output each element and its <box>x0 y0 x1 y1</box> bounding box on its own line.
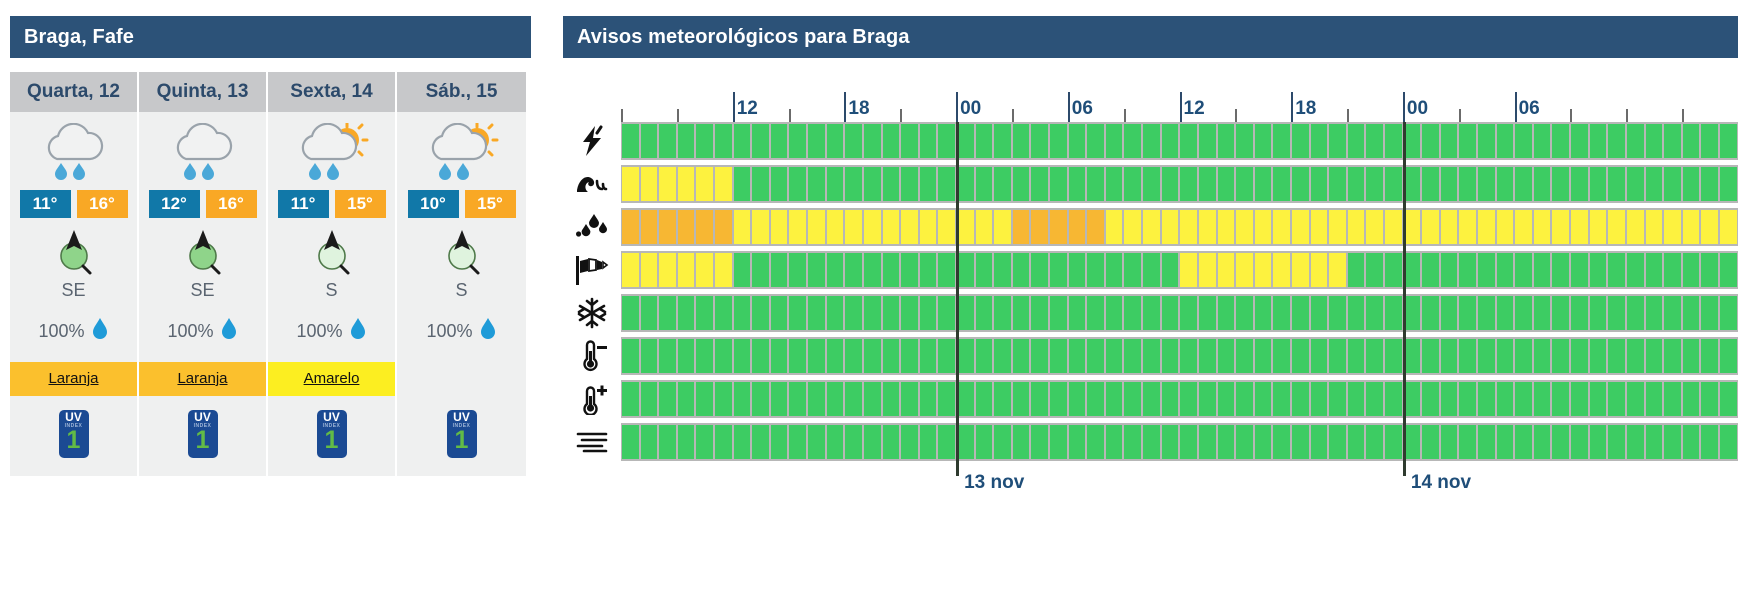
warning-cell[interactable] <box>715 296 732 330</box>
warning-cell[interactable] <box>1087 296 1104 330</box>
warning-cell[interactable] <box>1627 124 1644 158</box>
warning-cell[interactable] <box>1683 124 1700 158</box>
warning-cell[interactable] <box>1646 382 1663 416</box>
warning-cell[interactable] <box>1124 124 1141 158</box>
warning-cell[interactable] <box>1124 296 1141 330</box>
warning-cell[interactable] <box>901 124 918 158</box>
warning-cell[interactable] <box>696 210 713 244</box>
warning-cell[interactable] <box>1087 253 1104 287</box>
warning-cell[interactable] <box>994 339 1011 373</box>
warning-cell[interactable] <box>1218 253 1235 287</box>
warning-cell[interactable] <box>1255 124 1272 158</box>
warning-cell[interactable] <box>1236 167 1253 201</box>
warning-cell[interactable] <box>715 167 732 201</box>
warning-cell[interactable] <box>1013 210 1030 244</box>
warning-cell[interactable] <box>752 339 769 373</box>
warning-cell[interactable] <box>622 124 639 158</box>
warning-cell[interactable] <box>1608 124 1625 158</box>
warning-cell[interactable] <box>1459 167 1476 201</box>
warning-cell[interactable] <box>883 167 900 201</box>
warning-cell[interactable] <box>1646 167 1663 201</box>
warning-cell[interactable] <box>1701 339 1718 373</box>
warning-cell[interactable] <box>1292 296 1309 330</box>
warning-cell[interactable] <box>1199 124 1216 158</box>
warning-cell[interactable] <box>976 253 993 287</box>
warning-cell[interactable] <box>1162 339 1179 373</box>
warning-cell[interactable] <box>1720 382 1737 416</box>
warning-cell[interactable] <box>789 210 806 244</box>
warning-cell[interactable] <box>1013 253 1030 287</box>
warning-cell[interactable] <box>1590 339 1607 373</box>
warning-cell[interactable] <box>678 296 695 330</box>
warning-cell[interactable] <box>1348 124 1365 158</box>
warning-cell[interactable] <box>1590 425 1607 459</box>
warning-cell[interactable] <box>1162 167 1179 201</box>
warning-cell[interactable] <box>752 382 769 416</box>
warning-cell[interactable] <box>1031 210 1048 244</box>
warning-cell[interactable] <box>1292 210 1309 244</box>
warning-cell[interactable] <box>845 425 862 459</box>
warning-cell[interactable] <box>734 382 751 416</box>
warning-cell[interactable] <box>1162 124 1179 158</box>
warning-cell[interactable] <box>1366 167 1383 201</box>
warning-cell[interactable] <box>1255 382 1272 416</box>
warning-cell[interactable] <box>1199 210 1216 244</box>
warning-cell[interactable] <box>1404 296 1421 330</box>
warning-cell[interactable] <box>1329 296 1346 330</box>
warning-cell[interactable] <box>1031 382 1048 416</box>
warning-cell[interactable] <box>994 296 1011 330</box>
warning-cell[interactable] <box>976 167 993 201</box>
warning-cell[interactable] <box>678 167 695 201</box>
day-forecast-card[interactable]: Quinta, 13 12°16° SE100% LaranjaUVINDEX1 <box>139 72 268 476</box>
warning-cell[interactable] <box>1050 425 1067 459</box>
warning-cell[interactable] <box>1441 124 1458 158</box>
warning-cell[interactable] <box>1664 339 1681 373</box>
warning-cell[interactable] <box>1366 210 1383 244</box>
warning-cell[interactable] <box>1459 124 1476 158</box>
warning-cell[interactable] <box>1087 425 1104 459</box>
warning-cell[interactable] <box>1646 210 1663 244</box>
warning-cell[interactable] <box>1069 253 1086 287</box>
warning-cell[interactable] <box>1255 296 1272 330</box>
warning-cell[interactable] <box>659 210 676 244</box>
warning-cell[interactable] <box>771 339 788 373</box>
warning-cell[interactable] <box>1441 253 1458 287</box>
warning-cell[interactable] <box>1664 210 1681 244</box>
warning-cell[interactable] <box>1478 382 1495 416</box>
warning-cell[interactable] <box>1311 167 1328 201</box>
warning-cell[interactable] <box>938 253 955 287</box>
warning-cell[interactable] <box>1329 124 1346 158</box>
warning-cell[interactable] <box>696 124 713 158</box>
warning-cell[interactable] <box>1069 167 1086 201</box>
warning-cell[interactable] <box>901 296 918 330</box>
warning-cell[interactable] <box>659 339 676 373</box>
warning-cell[interactable] <box>1236 382 1253 416</box>
warning-cell[interactable] <box>1124 253 1141 287</box>
warning-cell[interactable] <box>641 253 658 287</box>
warning-cell[interactable] <box>1348 339 1365 373</box>
warning-cell[interactable] <box>789 339 806 373</box>
warning-cell[interactable] <box>771 167 788 201</box>
warning-cell[interactable] <box>1143 296 1160 330</box>
warning-cell[interactable] <box>1627 339 1644 373</box>
warning-cell[interactable] <box>1497 167 1514 201</box>
warning-cell[interactable] <box>1478 210 1495 244</box>
warning-cell[interactable] <box>641 339 658 373</box>
warning-cell[interactable] <box>1552 124 1569 158</box>
warning-cell[interactable] <box>808 339 825 373</box>
warning-cell[interactable] <box>752 167 769 201</box>
warning-cell[interactable] <box>864 167 881 201</box>
warning-cell[interactable] <box>1292 253 1309 287</box>
warning-cell[interactable] <box>1683 253 1700 287</box>
warning-cell[interactable] <box>1608 382 1625 416</box>
warning-cell[interactable] <box>827 425 844 459</box>
warning-cell[interactable] <box>1311 382 1328 416</box>
warning-cell[interactable] <box>1441 382 1458 416</box>
warning-cell[interactable] <box>883 382 900 416</box>
warning-cell[interactable] <box>659 124 676 158</box>
warning-cell[interactable] <box>994 167 1011 201</box>
warning-cell[interactable] <box>1348 425 1365 459</box>
warning-cell[interactable] <box>1180 167 1197 201</box>
warning-cell[interactable] <box>1087 382 1104 416</box>
warning-cell[interactable] <box>938 382 955 416</box>
warning-level-badge[interactable]: Laranja <box>139 362 266 396</box>
warning-cell[interactable] <box>1478 253 1495 287</box>
warning-cell[interactable] <box>808 253 825 287</box>
warning-cell[interactable] <box>1701 167 1718 201</box>
warning-cell[interactable] <box>1218 124 1235 158</box>
warning-cell[interactable] <box>994 210 1011 244</box>
warning-cell[interactable] <box>976 382 993 416</box>
warning-cell[interactable] <box>1162 296 1179 330</box>
warning-cell[interactable] <box>976 210 993 244</box>
warning-cell[interactable] <box>734 425 751 459</box>
warning-cell[interactable] <box>1031 167 1048 201</box>
warning-cell[interactable] <box>938 124 955 158</box>
warning-cell[interactable] <box>845 124 862 158</box>
warning-cell[interactable] <box>1478 425 1495 459</box>
warning-cell[interactable] <box>1236 210 1253 244</box>
warning-cell[interactable] <box>1552 210 1569 244</box>
warning-cell[interactable] <box>1255 425 1272 459</box>
warning-cell[interactable] <box>1255 339 1272 373</box>
warning-cell[interactable] <box>1627 253 1644 287</box>
warning-cell[interactable] <box>1571 210 1588 244</box>
warning-cell[interactable] <box>976 339 993 373</box>
warning-cell[interactable] <box>1329 382 1346 416</box>
warning-cell[interactable] <box>1683 167 1700 201</box>
warning-cell[interactable] <box>1422 124 1439 158</box>
warning-cell[interactable] <box>827 382 844 416</box>
warning-cell[interactable] <box>808 425 825 459</box>
warning-cell[interactable] <box>1720 210 1737 244</box>
warning-cell[interactable] <box>994 253 1011 287</box>
warning-cell[interactable] <box>789 167 806 201</box>
warning-cell[interactable] <box>1701 382 1718 416</box>
warning-cell[interactable] <box>808 167 825 201</box>
warning-cell[interactable] <box>1515 296 1532 330</box>
warning-cell[interactable] <box>1255 210 1272 244</box>
warning-cell[interactable] <box>1404 124 1421 158</box>
warning-cell[interactable] <box>1031 296 1048 330</box>
warning-cell[interactable] <box>1385 167 1402 201</box>
warning-cell[interactable] <box>1608 339 1625 373</box>
warning-cell[interactable] <box>1348 167 1365 201</box>
warning-cell[interactable] <box>752 425 769 459</box>
warning-cell[interactable] <box>845 296 862 330</box>
warning-cell[interactable] <box>1273 425 1290 459</box>
warning-row[interactable] <box>621 251 1738 289</box>
warning-cell[interactable] <box>1497 253 1514 287</box>
warning-cell[interactable] <box>808 210 825 244</box>
warning-cell[interactable] <box>659 382 676 416</box>
warning-cell[interactable] <box>957 296 974 330</box>
warning-cell[interactable] <box>1385 253 1402 287</box>
warning-cell[interactable] <box>1404 167 1421 201</box>
warning-cell[interactable] <box>827 124 844 158</box>
warning-cell[interactable] <box>1571 167 1588 201</box>
warning-cell[interactable] <box>1422 339 1439 373</box>
warning-cell[interactable] <box>845 210 862 244</box>
warning-cell[interactable] <box>901 339 918 373</box>
warning-cell[interactable] <box>1441 296 1458 330</box>
warning-cell[interactable] <box>1199 339 1216 373</box>
warning-cell[interactable] <box>1199 253 1216 287</box>
warning-cell[interactable] <box>1087 167 1104 201</box>
warning-cell[interactable] <box>845 339 862 373</box>
warning-cell[interactable] <box>938 167 955 201</box>
warning-cell[interactable] <box>1069 339 1086 373</box>
day-forecast-card[interactable]: Sexta, 14 11°15° S100% AmareloUVINDEX1 <box>268 72 397 476</box>
warning-cell[interactable] <box>1590 296 1607 330</box>
warning-cell[interactable] <box>1404 210 1421 244</box>
warning-cell[interactable] <box>789 382 806 416</box>
warning-cell[interactable] <box>994 124 1011 158</box>
warning-cell[interactable] <box>641 167 658 201</box>
warning-cell[interactable] <box>901 425 918 459</box>
warning-cell[interactable] <box>808 382 825 416</box>
warning-cell[interactable] <box>1552 425 1569 459</box>
warning-cell[interactable] <box>864 382 881 416</box>
warning-cell[interactable] <box>1329 425 1346 459</box>
warning-cell[interactable] <box>1162 382 1179 416</box>
warning-cell[interactable] <box>845 382 862 416</box>
warning-cell[interactable] <box>920 382 937 416</box>
warning-cell[interactable] <box>1515 253 1532 287</box>
warning-cell[interactable] <box>1329 210 1346 244</box>
warning-cell[interactable] <box>1720 425 1737 459</box>
warning-cell[interactable] <box>1162 210 1179 244</box>
warning-cell[interactable] <box>1404 253 1421 287</box>
day-forecast-card[interactable]: Quarta, 12 11°16° SE100% LaranjaUVINDEX1 <box>10 72 139 476</box>
warning-cell[interactable] <box>1218 339 1235 373</box>
warning-cell[interactable] <box>1348 296 1365 330</box>
warning-cell[interactable] <box>920 167 937 201</box>
warning-cell[interactable] <box>1124 167 1141 201</box>
warning-row[interactable] <box>621 380 1738 418</box>
warning-cell[interactable] <box>957 425 974 459</box>
warning-cell[interactable] <box>1422 210 1439 244</box>
warning-cell[interactable] <box>734 167 751 201</box>
warning-cell[interactable] <box>1143 382 1160 416</box>
warning-cell[interactable] <box>1608 210 1625 244</box>
warning-cell[interactable] <box>1273 382 1290 416</box>
warning-cell[interactable] <box>1069 382 1086 416</box>
warning-cell[interactable] <box>920 253 937 287</box>
warning-cell[interactable] <box>1683 296 1700 330</box>
warning-cell[interactable] <box>1273 167 1290 201</box>
warning-cell[interactable] <box>1180 124 1197 158</box>
warning-cell[interactable] <box>1311 210 1328 244</box>
warning-cell[interactable] <box>734 210 751 244</box>
warning-cell[interactable] <box>659 253 676 287</box>
warning-cell[interactable] <box>920 425 937 459</box>
warning-cell[interactable] <box>827 210 844 244</box>
warning-cell[interactable] <box>1441 339 1458 373</box>
warning-cell[interactable] <box>1590 167 1607 201</box>
warning-cell[interactable] <box>1497 339 1514 373</box>
warning-cell[interactable] <box>659 296 676 330</box>
warning-cell[interactable] <box>1292 339 1309 373</box>
warning-cell[interactable] <box>1069 425 1086 459</box>
warning-cell[interactable] <box>957 210 974 244</box>
warning-cell[interactable] <box>957 124 974 158</box>
warning-cell[interactable] <box>1720 296 1737 330</box>
warning-cell[interactable] <box>1366 253 1383 287</box>
warning-cell[interactable] <box>1720 167 1737 201</box>
warning-cell[interactable] <box>1497 382 1514 416</box>
warning-cell[interactable] <box>1459 296 1476 330</box>
warning-cell[interactable] <box>1627 296 1644 330</box>
warning-cell[interactable] <box>1385 296 1402 330</box>
warning-cell[interactable] <box>641 382 658 416</box>
warning-cell[interactable] <box>752 253 769 287</box>
warning-cell[interactable] <box>1646 425 1663 459</box>
warning-cell[interactable] <box>678 339 695 373</box>
warning-cell[interactable] <box>864 425 881 459</box>
warning-cell[interactable] <box>1236 339 1253 373</box>
warning-cell[interactable] <box>864 124 881 158</box>
warning-cell[interactable] <box>1218 425 1235 459</box>
warning-cell[interactable] <box>957 167 974 201</box>
warning-cell[interactable] <box>734 296 751 330</box>
warning-cell[interactable] <box>1720 339 1737 373</box>
warning-cell[interactable] <box>1106 296 1123 330</box>
warning-cell[interactable] <box>789 296 806 330</box>
warning-cell[interactable] <box>1031 124 1048 158</box>
warning-cell[interactable] <box>1050 339 1067 373</box>
warning-cell[interactable] <box>994 382 1011 416</box>
warning-cell[interactable] <box>1664 425 1681 459</box>
warning-cell[interactable] <box>771 253 788 287</box>
warning-cell[interactable] <box>1366 296 1383 330</box>
warning-cell[interactable] <box>1180 382 1197 416</box>
warning-cell[interactable] <box>1236 296 1253 330</box>
warning-cell[interactable] <box>845 167 862 201</box>
warning-cell[interactable] <box>622 339 639 373</box>
warning-cell[interactable] <box>1515 124 1532 158</box>
warning-cell[interactable] <box>1273 210 1290 244</box>
warning-cell[interactable] <box>622 425 639 459</box>
warning-cell[interactable] <box>1515 339 1532 373</box>
warning-cell[interactable] <box>1478 339 1495 373</box>
warning-cell[interactable] <box>1590 210 1607 244</box>
warning-cell[interactable] <box>715 210 732 244</box>
warning-cell[interactable] <box>622 210 639 244</box>
warning-cell[interactable] <box>1050 167 1067 201</box>
warning-cell[interactable] <box>827 253 844 287</box>
warning-cell[interactable] <box>1441 167 1458 201</box>
warning-cell[interactable] <box>1552 382 1569 416</box>
warning-cell[interactable] <box>1478 124 1495 158</box>
warning-cell[interactable] <box>1013 296 1030 330</box>
warning-cell[interactable] <box>1273 124 1290 158</box>
warning-cell[interactable] <box>1106 339 1123 373</box>
warning-cell[interactable] <box>622 167 639 201</box>
warning-cell[interactable] <box>771 296 788 330</box>
warning-cell[interactable] <box>678 253 695 287</box>
warning-cell[interactable] <box>883 296 900 330</box>
warning-cell[interactable] <box>1143 167 1160 201</box>
warning-cell[interactable] <box>1069 124 1086 158</box>
warning-cell[interactable] <box>901 253 918 287</box>
warning-cell[interactable] <box>771 382 788 416</box>
warning-cell[interactable] <box>1552 167 1569 201</box>
warning-cell[interactable] <box>1515 425 1532 459</box>
warning-cell[interactable] <box>734 253 751 287</box>
warning-cell[interactable] <box>957 382 974 416</box>
warning-cell[interactable] <box>696 167 713 201</box>
warning-cell[interactable] <box>1552 339 1569 373</box>
warning-cell[interactable] <box>696 425 713 459</box>
warning-cell[interactable] <box>1515 167 1532 201</box>
warning-cell[interactable] <box>771 425 788 459</box>
warning-cell[interactable] <box>1571 296 1588 330</box>
warning-cell[interactable] <box>1478 296 1495 330</box>
warning-cell[interactable] <box>641 210 658 244</box>
warning-cell[interactable] <box>1292 382 1309 416</box>
warning-level-badge[interactable]: Amarelo <box>268 362 395 396</box>
warning-cell[interactable] <box>1031 253 1048 287</box>
warning-cell[interactable] <box>1701 425 1718 459</box>
warning-cell[interactable] <box>1627 382 1644 416</box>
warning-cell[interactable] <box>1013 382 1030 416</box>
warning-cell[interactable] <box>1292 124 1309 158</box>
warning-cell[interactable] <box>827 339 844 373</box>
warning-cell[interactable] <box>1422 296 1439 330</box>
warning-row[interactable] <box>621 337 1738 375</box>
warning-cell[interactable] <box>901 210 918 244</box>
warning-cell[interactable] <box>1385 425 1402 459</box>
warning-cell[interactable] <box>938 425 955 459</box>
warning-cell[interactable] <box>1459 382 1476 416</box>
warning-level-link[interactable]: Laranja <box>48 370 98 387</box>
warning-cell[interactable] <box>1497 210 1514 244</box>
day-forecast-card[interactable]: Sáb., 15 10°15° S100% UVINDEX1 <box>397 72 526 476</box>
warning-cell[interactable] <box>1664 382 1681 416</box>
warning-cell[interactable] <box>1199 382 1216 416</box>
warning-cell[interactable] <box>1534 167 1551 201</box>
warning-level-link[interactable]: Laranja <box>177 370 227 387</box>
warning-cell[interactable] <box>1106 382 1123 416</box>
warning-cell[interactable] <box>1590 382 1607 416</box>
warning-cell[interactable] <box>1013 425 1030 459</box>
warning-cell[interactable] <box>622 253 639 287</box>
